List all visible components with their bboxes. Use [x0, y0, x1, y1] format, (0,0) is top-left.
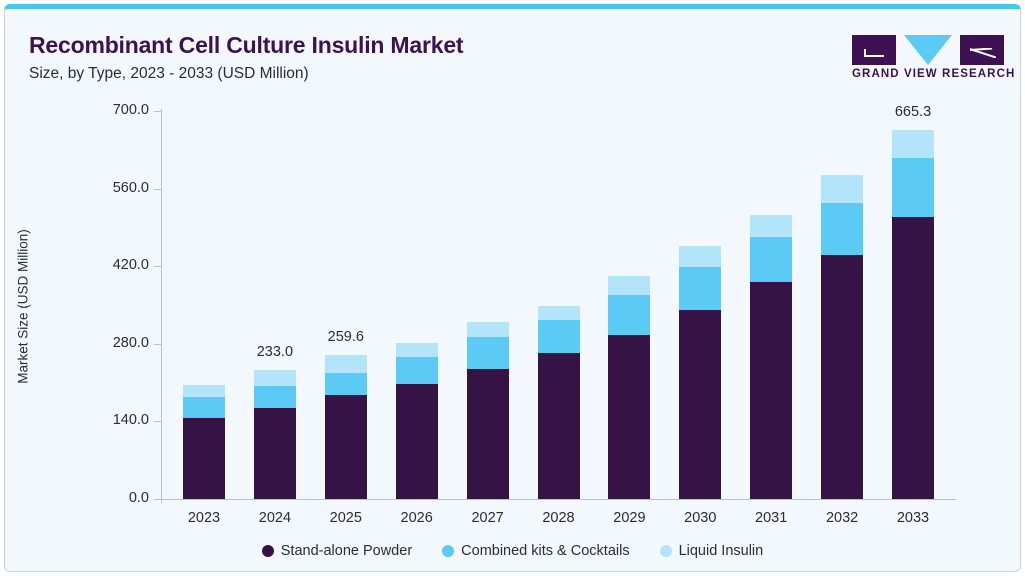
bar-segment — [538, 353, 580, 499]
y-tick-mark — [154, 421, 161, 422]
bar-2025[interactable] — [325, 355, 367, 499]
y-tick-mark — [154, 344, 161, 345]
y-tick-label: 0.0 — [79, 490, 149, 506]
bar-segment — [750, 215, 792, 238]
legend-dot-icon — [660, 545, 672, 557]
y-tick-label: 700.0 — [79, 102, 149, 118]
bar-segment — [183, 385, 225, 397]
bar-segment — [467, 322, 509, 337]
bar-segment — [467, 337, 509, 369]
y-tick-mark — [154, 111, 161, 112]
bar-2031[interactable] — [750, 215, 792, 499]
chart-card: Recombinant Cell Culture Insulin Market … — [4, 4, 1021, 572]
bar-segment — [892, 158, 934, 217]
bar-segment — [183, 397, 225, 418]
bar-2027[interactable] — [467, 322, 509, 499]
bar-value-label: 259.6 — [301, 329, 391, 345]
bar-2023[interactable] — [183, 385, 225, 499]
legend-item-0[interactable]: Stand-alone Powder — [262, 543, 412, 559]
bar-segment — [325, 395, 367, 499]
legend-item-1[interactable]: Combined kits & Cocktails — [442, 543, 629, 559]
y-tick-label: 560.0 — [79, 180, 149, 196]
y-tick-mark — [154, 499, 161, 500]
x-axis-line — [161, 499, 956, 500]
bar-2029[interactable] — [608, 276, 650, 499]
y-axis-line — [161, 109, 162, 503]
bar-segment — [254, 386, 296, 408]
bar-segment — [679, 246, 721, 267]
bar-2033[interactable] — [892, 130, 934, 499]
bar-segment — [396, 384, 438, 499]
bar-2024[interactable] — [254, 370, 296, 499]
legend-label: Combined kits & Cocktails — [461, 543, 629, 559]
y-tick-label: 140.0 — [79, 412, 149, 428]
chart-plot-area: Market Size (USD Million) 0.0140.0280.04… — [5, 9, 1021, 572]
bar-value-label: 665.3 — [868, 104, 958, 120]
bar-segment — [325, 373, 367, 395]
bar-segment — [538, 306, 580, 320]
y-tick-mark — [154, 189, 161, 190]
bar-segment — [892, 130, 934, 158]
chart-legend: Stand-alone PowderCombined kits & Cockta… — [5, 543, 1020, 559]
bar-segment — [608, 295, 650, 335]
bar-2032[interactable] — [821, 175, 863, 499]
bar-segment — [396, 343, 438, 357]
bar-segment — [821, 175, 863, 203]
legend-label: Stand-alone Powder — [281, 543, 412, 559]
y-tick-label: 280.0 — [79, 335, 149, 351]
bar-segment — [750, 237, 792, 282]
legend-dot-icon — [442, 545, 454, 557]
bar-segment — [821, 255, 863, 499]
y-tick-label: 420.0 — [79, 257, 149, 273]
legend-dot-icon — [262, 545, 274, 557]
bar-segment — [679, 310, 721, 499]
legend-item-2[interactable]: Liquid Insulin — [660, 543, 764, 559]
bar-segment — [538, 320, 580, 353]
bar-2030[interactable] — [679, 246, 721, 499]
bar-value-label: 233.0 — [230, 344, 320, 360]
y-axis-title: Market Size (USD Million) — [16, 167, 31, 447]
bar-segment — [396, 357, 438, 384]
bar-segment — [679, 267, 721, 310]
bar-segment — [608, 335, 650, 499]
bar-segment — [821, 203, 863, 255]
x-tick-label-2033: 2033 — [868, 510, 958, 526]
legend-label: Liquid Insulin — [679, 543, 764, 559]
y-tick-mark — [154, 266, 161, 267]
bar-segment — [325, 355, 367, 373]
bar-2026[interactable] — [396, 343, 438, 499]
bar-2028[interactable] — [538, 306, 580, 499]
bar-segment — [254, 370, 296, 386]
bar-segment — [750, 282, 792, 499]
bar-segment — [608, 276, 650, 295]
bar-segment — [254, 408, 296, 499]
bar-segment — [183, 418, 225, 499]
bar-segment — [892, 217, 934, 499]
bar-segment — [467, 369, 509, 499]
